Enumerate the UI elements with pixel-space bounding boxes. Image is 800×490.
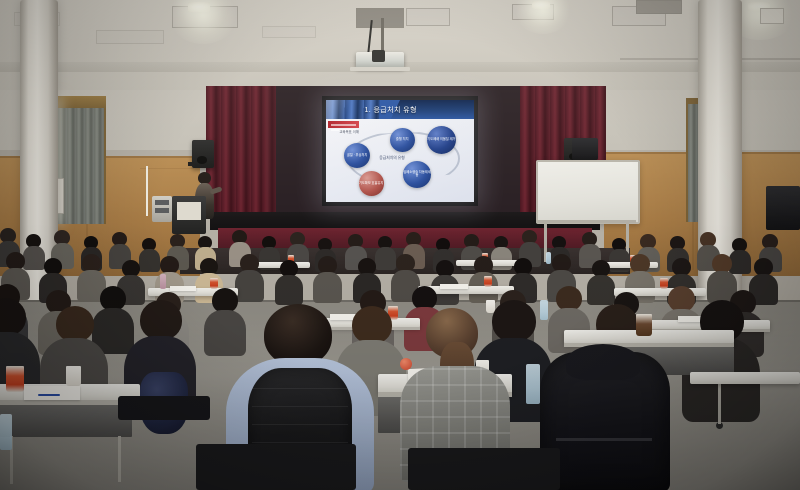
water-bottle [540, 300, 548, 320]
wall-speaker-left [192, 140, 214, 168]
coffee-cup [484, 276, 492, 287]
jacket-hem [556, 438, 652, 441]
window-curtain-left [58, 108, 104, 224]
av-cart-panel [155, 200, 169, 205]
water-bottle [160, 274, 166, 289]
chair-back[interactable] [408, 448, 560, 490]
table-far-right [690, 372, 800, 384]
fruit [400, 358, 412, 370]
ceiling-vent [760, 8, 784, 24]
coffee-cup [660, 278, 668, 289]
wainscot-seam [140, 168, 194, 169]
paper-cup [66, 366, 81, 386]
water-bottle [0, 414, 12, 450]
slide-side-note: 교육목표 이해 [339, 129, 359, 134]
ceiling-tile [96, 30, 164, 44]
ceiling-tile [356, 8, 404, 28]
chair-back[interactable] [118, 396, 210, 420]
slide-center-label: 응급처치의 유형 [379, 156, 405, 161]
speaker-bracket [188, 162, 194, 166]
water-bottle [546, 252, 551, 264]
handout-paper [170, 286, 196, 291]
table-leg [118, 436, 121, 482]
slide-node-3: 심폐소생술 자동제세동 [403, 161, 431, 188]
ceiling-tile [262, 26, 316, 38]
coffee-cup [636, 314, 652, 336]
ceiling-vent [636, 0, 682, 14]
whiteboard[interactable] [536, 160, 640, 224]
wall-monitor[interactable] [572, 138, 598, 160]
lectern-paper [177, 202, 201, 220]
lecture-hall-photo: 1. 응급처치 유형 교육목표 이해 응급처치의 유형 출혈 처치 기도폐쇄 이… [0, 0, 800, 490]
jacket-hood [566, 344, 640, 380]
handout-paper [24, 386, 80, 400]
coffee-cup [6, 366, 24, 392]
slide-node-4: 기도확보 호흡유지 [359, 171, 384, 195]
stage-curtain-fold [262, 86, 276, 212]
water-bottle [526, 364, 540, 404]
projector-lens [372, 50, 385, 62]
slide-title: 1. 응급처치 유형 [364, 105, 416, 115]
pointer-stick [146, 166, 148, 216]
table-leg [718, 380, 721, 424]
whiteboard-tray [536, 220, 636, 223]
attendee-head [264, 304, 332, 366]
projector-plate [350, 67, 410, 71]
handout-paper [440, 284, 468, 289]
chair-back[interactable] [196, 444, 356, 490]
pen [38, 394, 60, 396]
table-modesty-panel [0, 405, 132, 437]
slide-node-1: 출혈 처치 [390, 128, 415, 152]
ceiling-tile [406, 8, 450, 26]
projector-mount-pole [381, 18, 384, 54]
slide-side-tab [328, 121, 359, 128]
slide-node-2: 기도폐쇄 이물질 제거 [427, 126, 457, 155]
projection-screen[interactable]: 1. 응급처치 유형 교육목표 이해 응급처치의 유형 출혈 처치 기도폐쇄 이… [326, 100, 474, 202]
wall-monitor-far-right[interactable] [766, 186, 800, 230]
coffee-cup [210, 278, 218, 289]
av-cart-panel [155, 208, 169, 213]
